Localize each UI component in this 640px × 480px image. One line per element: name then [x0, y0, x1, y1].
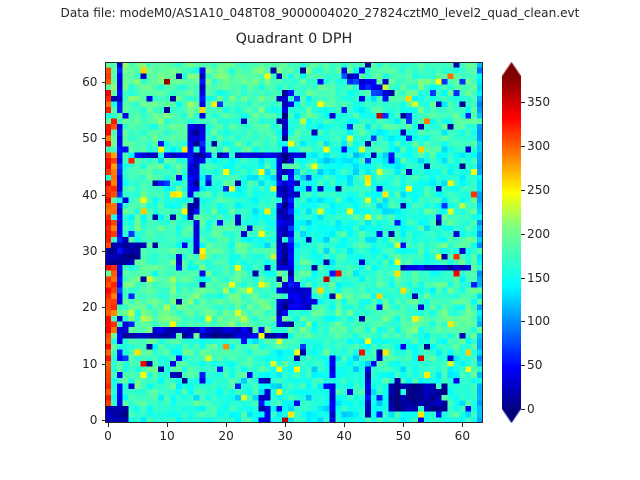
matplotlib-figure: Data file: modeM0/AS1A10_048T08_90000040… [0, 0, 640, 480]
y-tick-label: 40 [52, 188, 98, 202]
y-tick-label: 20 [52, 300, 98, 314]
x-tick-label: 40 [324, 429, 364, 443]
x-tick-label: 50 [383, 429, 423, 443]
x-tick-mark [226, 423, 227, 427]
colorbar-tick-label: 350 [527, 95, 550, 109]
x-tick-mark [344, 423, 345, 427]
y-tick-label: 50 [52, 131, 98, 145]
x-tick-mark [285, 423, 286, 427]
y-tick-mark [102, 420, 106, 421]
colorbar-tick-mark [521, 146, 525, 147]
colorbar-tick-mark [521, 234, 525, 235]
heatmap-axes[interactable] [105, 62, 483, 423]
colorbar-tick-label: 300 [527, 139, 550, 153]
y-tick-label: 10 [52, 357, 98, 371]
colorbar-tick-mark [521, 102, 525, 103]
colorbar[interactable] [502, 62, 521, 423]
y-tick-label: 60 [52, 75, 98, 89]
x-tick-label: 30 [265, 429, 305, 443]
y-tick-mark [102, 138, 106, 139]
colorbar-tick-label: 100 [527, 314, 550, 328]
heatmap-image[interactable] [105, 62, 483, 423]
y-tick-mark [102, 364, 106, 365]
page-title: Quadrant 0 DPH [105, 31, 483, 48]
x-tick-mark [167, 423, 168, 427]
x-tick-label: 60 [442, 429, 482, 443]
colorbar-tick-mark [521, 321, 525, 322]
y-tick-mark [102, 82, 106, 83]
colorbar-tick-label: 250 [527, 183, 550, 197]
x-tick-label: 20 [206, 429, 246, 443]
y-tick-mark [102, 251, 106, 252]
colorbar-tick-label: 50 [527, 358, 542, 372]
colorbar-tick-mark [521, 190, 525, 191]
colorbar-tick-mark [521, 278, 525, 279]
y-tick-mark [102, 307, 106, 308]
y-tick-label: 0 [52, 413, 98, 427]
data-file-label: Data file: modeM0/AS1A10_048T08_90000040… [0, 6, 640, 20]
x-tick-mark [108, 423, 109, 427]
x-tick-mark [403, 423, 404, 427]
colorbar-tick-label: 150 [527, 271, 550, 285]
colorbar-gradient[interactable] [502, 62, 521, 423]
colorbar-tick-label: 200 [527, 227, 550, 241]
y-tick-label: 30 [52, 244, 98, 258]
x-tick-mark [462, 423, 463, 427]
colorbar-tick-mark [521, 409, 525, 410]
colorbar-tick-label: 0 [527, 402, 535, 416]
x-tick-label: 0 [88, 429, 128, 443]
y-tick-mark [102, 195, 106, 196]
x-tick-label: 10 [147, 429, 187, 443]
colorbar-tick-mark [521, 365, 525, 366]
